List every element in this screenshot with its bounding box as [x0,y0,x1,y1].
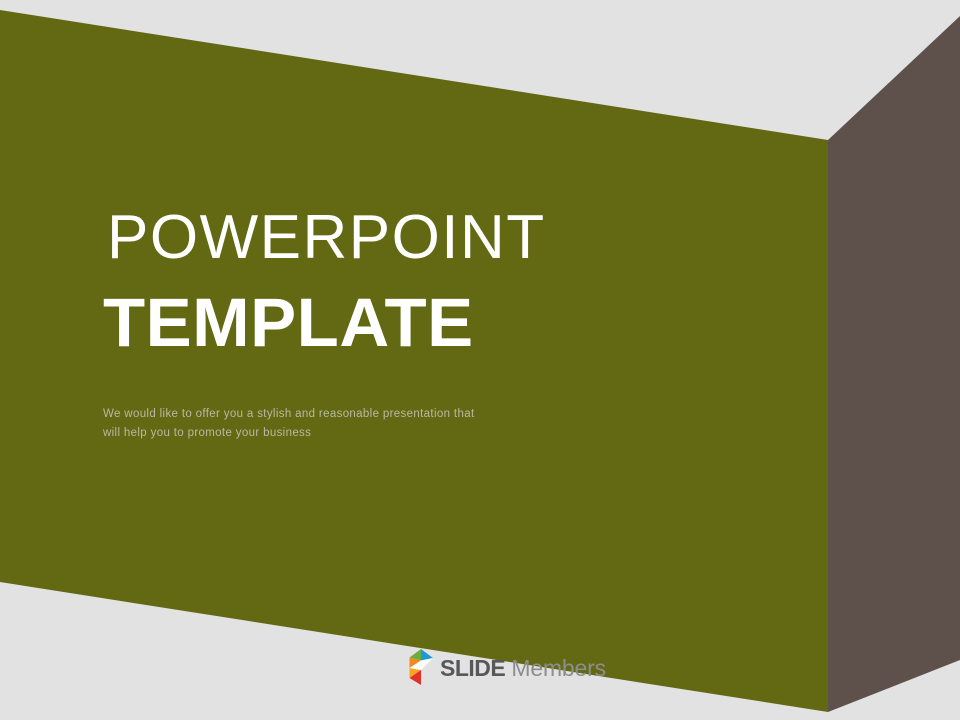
logo-word-slide: SLIDE [440,655,505,681]
logo-word-members: Members [505,655,606,681]
subtitle-text: We would like to offer you a stylish and… [103,405,493,443]
page-title-line-2: TEMPLATE [103,287,623,359]
page-title-line-1: POWERPOINT [103,206,623,269]
slide-canvas: POWERPOINT TEMPLATE We would like to off… [0,0,960,720]
slide-members-logo: SLIDE Members [404,648,606,686]
box-side-face [828,16,960,712]
title-text-block: POWERPOINT TEMPLATE We would like to off… [103,206,623,443]
logo-wordmark: SLIDE Members [440,657,606,680]
slide-members-hexagon-icon [404,648,438,686]
